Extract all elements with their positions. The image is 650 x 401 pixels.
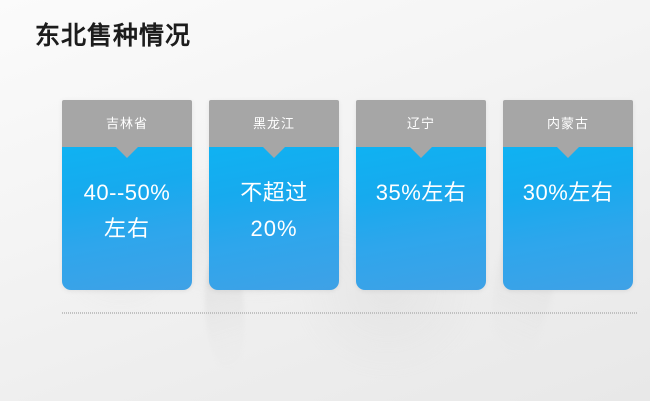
- page-title: 东北售种情况: [35, 19, 191, 53]
- region-card-header: 辽宁: [356, 100, 486, 147]
- region-card-header: 黑龙江: [209, 100, 339, 147]
- region-card-body: 30%左右: [503, 147, 633, 290]
- region-card-body: 35%左右: [356, 147, 486, 290]
- region-name-label: 黑龙江: [253, 116, 295, 132]
- region-name-label: 内蒙古: [547, 116, 589, 132]
- slide-canvas: 东北售种情况 吉林省 40--50% 左右 黑龙江 不超过 20%: [0, 0, 650, 401]
- region-card-heilongjiang[interactable]: 黑龙江 不超过 20%: [209, 100, 339, 290]
- region-value-line1: 35%左右: [376, 175, 467, 211]
- triangle-notch-icon: [557, 147, 579, 158]
- region-name-label: 辽宁: [407, 116, 435, 132]
- region-card-body: 40--50% 左右: [62, 147, 192, 290]
- region-value-line1: 30%左右: [523, 175, 614, 211]
- region-card-neimenggu[interactable]: 内蒙古 30%左右: [503, 100, 633, 290]
- region-card-liaoning[interactable]: 辽宁 35%左右: [356, 100, 486, 290]
- region-card-jilin[interactable]: 吉林省 40--50% 左右: [62, 100, 192, 290]
- region-card-list: 吉林省 40--50% 左右 黑龙江 不超过 20% 辽宁: [62, 100, 638, 290]
- region-card-header: 内蒙古: [503, 100, 633, 147]
- region-card-body: 不超过 20%: [209, 147, 339, 290]
- region-card-header: 吉林省: [62, 100, 192, 147]
- region-value-line2: 左右: [104, 211, 150, 247]
- region-name-label: 吉林省: [106, 116, 148, 132]
- dotted-divider: [62, 312, 637, 314]
- triangle-notch-icon: [410, 147, 432, 158]
- triangle-notch-icon: [263, 147, 285, 158]
- region-value-line1: 40--50%: [84, 175, 171, 211]
- region-value-line1: 不超过: [240, 175, 308, 211]
- triangle-notch-icon: [116, 147, 138, 158]
- region-value-line2: 20%: [250, 211, 297, 247]
